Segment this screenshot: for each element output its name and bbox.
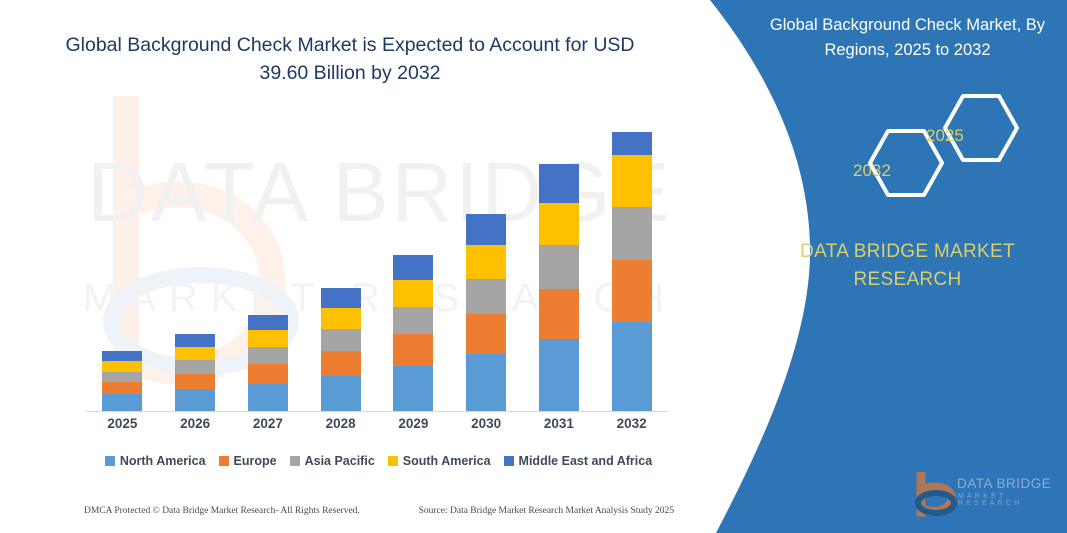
brand-name: DATA BRIDGE MARKET RESEARCH [755, 238, 1060, 293]
bar-stack [466, 214, 506, 411]
bar-segment [466, 354, 506, 411]
bar-segment [393, 366, 433, 411]
legend-item[interactable]: South America [388, 454, 491, 468]
bar-stack [393, 255, 433, 411]
infographic-canvas: DATA BRIDGE MARKET RESEARCH Global Backg… [0, 0, 1067, 533]
brand-line-1: DATA BRIDGE MARKET [755, 238, 1060, 266]
chart-plot-area [86, 120, 668, 412]
stacked-bar-chart: 20252026202720282029203020312032 [86, 120, 668, 413]
corner-logo-subtitle: MARKET RESEARCH [958, 493, 1061, 507]
legend-item[interactable]: Europe [219, 454, 277, 468]
bar-segment [248, 315, 288, 331]
bar-column-2031 [523, 120, 594, 411]
bar-segment [175, 360, 215, 373]
bar-segment [175, 389, 215, 411]
x-axis-label-2028: 2028 [305, 416, 376, 431]
bar-segment [102, 394, 142, 411]
bar-segment [539, 245, 579, 289]
hexagon-group: 2032 2025 [803, 88, 1053, 206]
footer-source: Source: Data Bridge Market Research Mark… [419, 506, 674, 516]
legend-item[interactable]: Asia Pacific [290, 454, 375, 468]
x-axis-labels: 20252026202720282029203020312032 [86, 416, 668, 431]
footer-copyright: DMCA Protected © Data Bridge Market Rese… [84, 506, 360, 516]
bar-segment [466, 214, 506, 246]
hexagon-2025-label: 2025 [926, 126, 964, 146]
bar-segment [321, 288, 361, 308]
bar-segment [466, 314, 506, 354]
legend-label: Asia Pacific [305, 454, 375, 468]
x-axis-label-2026: 2026 [160, 416, 231, 431]
footer: DMCA Protected © Data Bridge Market Rese… [84, 506, 674, 516]
legend-label: North America [120, 454, 206, 468]
bar-stack [248, 315, 288, 412]
corner-logo-title: DATA BRIDGE [957, 476, 1051, 491]
right-panel-content: Global Background Check Market, By Regio… [745, 0, 1067, 533]
bar-segment [248, 330, 288, 347]
bar-segment [321, 351, 361, 376]
bar-segment [248, 384, 288, 411]
bar-column-2027 [232, 120, 303, 411]
x-axis-label-2031: 2031 [523, 416, 594, 431]
brand-line-2: RESEARCH [755, 266, 1060, 294]
bar-stack [539, 164, 579, 411]
bar-segment [539, 203, 579, 245]
bar-segment [612, 207, 652, 261]
bar-segment [612, 155, 652, 207]
bar-stack [102, 351, 142, 411]
bar-segment [393, 255, 433, 280]
chart-legend: North AmericaEuropeAsia PacificSouth Ame… [86, 454, 671, 468]
bar-column-2028 [305, 120, 376, 411]
bar-segment [321, 308, 361, 329]
bar-stack [321, 288, 361, 411]
bar-segment [102, 361, 142, 372]
bar-segment [466, 279, 506, 314]
legend-swatch-icon [388, 456, 398, 466]
bar-segment [175, 374, 215, 390]
legend-label: South America [403, 454, 491, 468]
bar-segment [393, 334, 433, 366]
legend-swatch-icon [504, 456, 514, 466]
bar-segment [612, 132, 652, 155]
bar-segment [612, 260, 652, 322]
x-axis-label-2032: 2032 [596, 416, 667, 431]
bar-segment [102, 372, 142, 383]
x-axis-label-2030: 2030 [451, 416, 522, 431]
legend-swatch-icon [219, 456, 229, 466]
left-chart-region: DATA BRIDGE MARKET RESEARCH Global Backg… [0, 0, 700, 533]
bar-segment [248, 347, 288, 364]
legend-swatch-icon [105, 456, 115, 466]
legend-label: Middle East and Africa [519, 454, 653, 468]
bar-segment [612, 322, 652, 411]
corner-logo: DATA BRIDGE MARKET RESEARCH [911, 472, 1061, 518]
x-axis-label-2029: 2029 [378, 416, 449, 431]
bar-segment [321, 329, 361, 351]
page-title: Global Background Check Market is Expect… [40, 32, 660, 87]
bar-segment [102, 351, 142, 361]
panel-title: Global Background Check Market, By Regio… [755, 13, 1060, 63]
bar-segment [175, 334, 215, 347]
bar-column-2029 [378, 120, 449, 411]
bar-stack [612, 132, 652, 411]
bar-segment [321, 376, 361, 411]
bar-segment [466, 245, 506, 279]
bar-segment [102, 382, 142, 394]
bar-column-2030 [451, 120, 522, 411]
bar-stack [175, 334, 215, 411]
legend-item[interactable]: North America [105, 454, 206, 468]
bar-segment [539, 164, 579, 203]
bar-segment [393, 280, 433, 307]
bar-column-2032 [596, 120, 667, 411]
bar-segment [393, 307, 433, 334]
legend-swatch-icon [290, 456, 300, 466]
bar-segment [175, 347, 215, 360]
bar-segment [539, 289, 579, 339]
bar-column-2026 [160, 120, 231, 411]
legend-item[interactable]: Middle East and Africa [504, 454, 653, 468]
hexagon-2032-label: 2032 [853, 161, 891, 181]
bar-column-2025 [87, 120, 158, 411]
legend-label: Europe [234, 454, 277, 468]
bar-segment [539, 339, 579, 411]
x-axis-label-2025: 2025 [87, 416, 158, 431]
bar-segment [248, 364, 288, 384]
x-axis-label-2027: 2027 [232, 416, 303, 431]
